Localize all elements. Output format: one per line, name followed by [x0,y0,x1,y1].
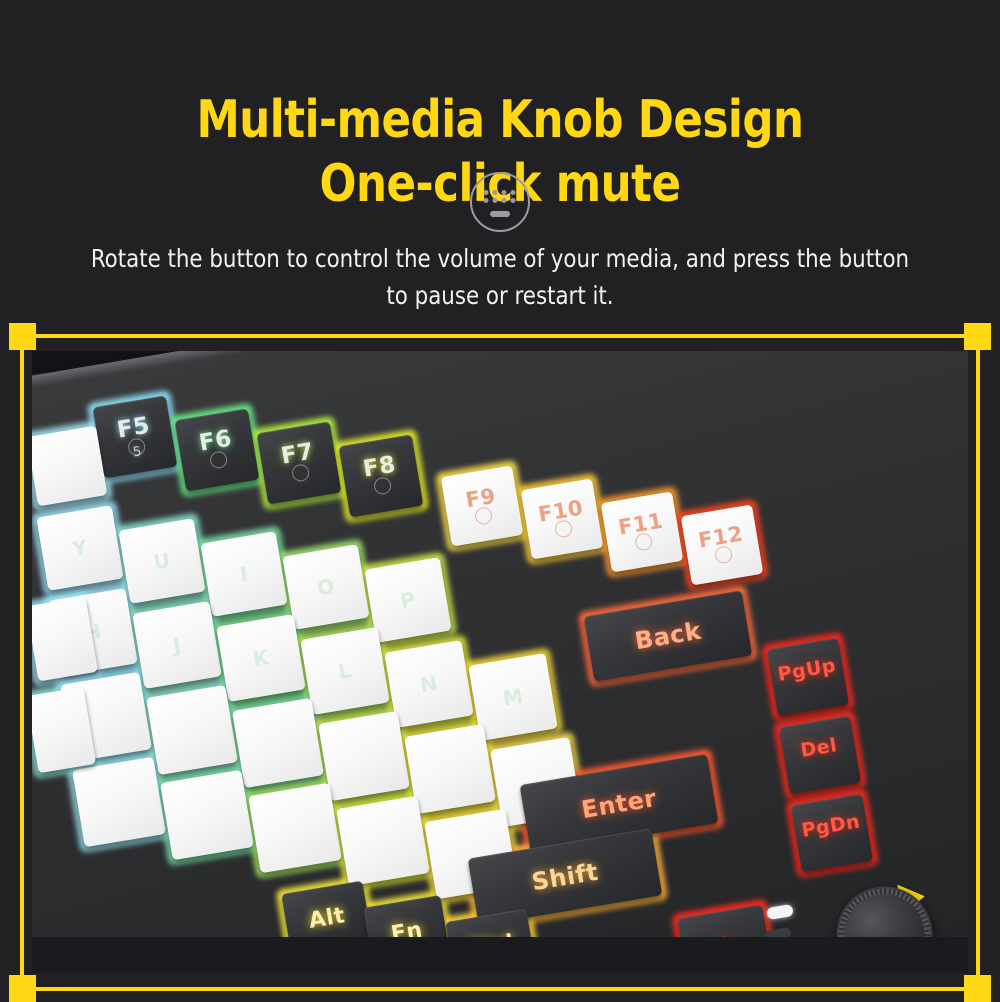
key-alpha-blank13[interactable] [232,698,324,788]
key-label: Shift [530,860,600,895]
key-f8[interactable]: F8 [339,434,424,517]
key-alpha-blank17[interactable] [72,757,166,847]
key-del[interactable]: Del [779,716,861,795]
keyboard-top-edge [32,351,968,415]
key-label: M [501,685,524,708]
key-f6[interactable]: F6 [175,408,260,491]
key-alpha-K[interactable]: K [216,614,305,702]
key-f11[interactable]: F11 [601,492,684,573]
key-alpha-blank20[interactable] [336,796,430,886]
frame-left-line [20,334,24,991]
framed-photo-area: F55F6F7F8F9F10F11F12YUIOPHJKLNMPgUpDelPg… [0,325,1000,1000]
key-label: F9 [464,485,497,511]
key-alpha-I[interactable]: I [200,531,287,617]
key-label: F12 [697,523,745,551]
key-alpha-blank14[interactable] [318,711,410,801]
product-feature-banner: Multi-media Knob Design One-click mute R… [0,0,1000,1000]
key-label: Del [799,736,838,761]
frame-corner-bottom-right [964,975,991,1002]
frame-corner-top-right [964,323,991,350]
key-label: U [152,550,172,572]
keyboard-icon-dots [484,190,517,203]
title-line-1: Multi-media Knob Design [196,90,803,150]
keyboard-icon-wrap [0,170,1000,234]
frame-corner-bottom-left [9,975,36,1002]
keyboard-icon-spacebar [490,211,510,217]
key-label: PgDn [800,812,861,840]
key-alpha-blank12[interactable] [146,685,238,775]
key-label: I [238,563,249,584]
key-label: Y [71,537,89,559]
page-subtitle: Rotate the button to control the volume … [82,240,918,314]
key-label: F6 [197,427,233,455]
key-alpha-blank18[interactable] [160,770,254,860]
key-label: N [419,673,439,696]
key-label: PgUp [776,656,837,684]
frame-bottom-line [18,987,982,991]
key-label: L [337,660,353,682]
key-f7[interactable]: F7 [257,421,342,504]
key-sublabel: 5 [132,445,143,459]
key-label: P [399,589,417,611]
key-label: O [316,576,337,599]
key-label: F11 [617,510,665,538]
key-alpha-blank19[interactable] [248,783,342,873]
key-label: F7 [279,440,315,468]
key-alpha-J[interactable]: J [132,601,221,689]
key-label: F5 [115,414,151,442]
key-label: Back [633,619,703,654]
key-alpha-O[interactable]: O [282,544,369,630]
frame-corner-top-left [9,323,36,350]
key-f12[interactable]: F12 [681,505,764,586]
key-alpha-L[interactable]: L [300,627,389,715]
key-label: F8 [361,453,397,481]
key-label: Enter [580,786,659,822]
key-label: K [251,647,270,669]
frame-right-line [976,334,980,991]
key-label: J [171,634,182,655]
header-section: Multi-media Knob Design One-click mute R… [0,0,1000,325]
key-alpha-Y[interactable]: Y [36,505,123,591]
key-f9[interactable]: F9 [441,466,524,547]
key-f5[interactable]: F55 [93,395,178,478]
key-pgup[interactable]: PgUp [767,638,849,717]
key-pgdn[interactable]: PgDn [791,794,873,873]
key-alpha-U[interactable]: U [118,518,205,604]
frame-top-line [18,334,982,338]
keyboard-circle-icon [470,172,530,232]
key-label: F10 [537,497,585,525]
product-photo: F55F6F7F8F9F10F11F12YUIOPHJKLNMPgUpDelPg… [32,351,968,973]
key-label: Alt [307,905,347,933]
key-alpha-blank22[interactable] [32,426,107,507]
key-f10[interactable]: F10 [521,479,604,560]
photo-bottom-shadow [32,937,968,973]
